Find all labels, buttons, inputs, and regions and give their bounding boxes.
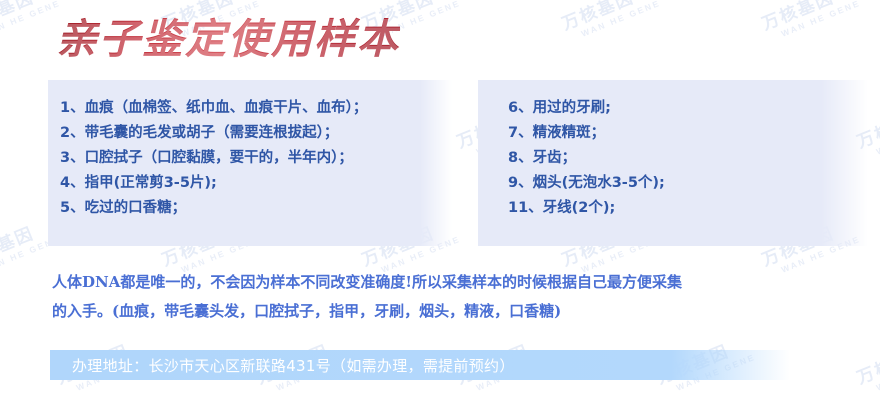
watermark-en: WAN HE GENE [0, 0, 62, 39]
sample-panels: 1、血痕（血棉签、纸巾血、血痕干片、血布）； 2、带毛囊的毛发或胡子（需要连根拔… [0, 80, 880, 246]
address-text: 办理地址：长沙市天心区新联路431号（如需办理，需提前预约） [72, 355, 515, 376]
poster-root: 亲子鉴定使用样本 1、血痕（血棉签、纸巾血、血痕干片、血布）； 2、带毛囊的毛发… [0, 0, 880, 400]
list-item: 3、口腔拭子（口腔黏膜，要干的，半年内）； [60, 146, 452, 171]
note-line-1: 人体DNA都是唯一的，不会因为样本不同改变准确度!所以采集样本的时候根据自己最方… [52, 268, 852, 297]
address-bar: 办理地址：长沙市天心区新联路431号（如需办理，需提前预约） [50, 350, 790, 380]
list-item: 11、牙线(2个); [508, 196, 868, 221]
note-line-2: 的入手。(血痕，带毛囊头发，口腔拭子，指甲，牙刷，烟头，精液，口香糖) [52, 297, 852, 326]
page-title: 亲子鉴定使用样本 [56, 14, 400, 65]
list-item: 4、指甲(正常剪3-5片); [60, 171, 452, 196]
sample-panel-left: 1、血痕（血棉签、纸巾血、血痕干片、血布）； 2、带毛囊的毛发或胡子（需要连根拔… [48, 80, 452, 246]
watermark-cn: 万核基因 [560, 0, 658, 35]
watermark-cn: 万核基因 [855, 335, 880, 389]
title-block: 亲子鉴定使用样本 [56, 14, 400, 65]
watermark-text: 万核基因WAN HE GENE [0, 0, 62, 44]
watermark-cn: 万核基因 [0, 0, 58, 35]
list-item: 7、精液精斑； [508, 121, 868, 146]
list-item: 8、牙齿； [508, 146, 868, 171]
watermark-text: 万核基因WAN HE GENE [560, 0, 662, 44]
watermark-text: 万核基因WAN HE GENE [855, 335, 880, 398]
watermark-en: WAN HE GENE [875, 352, 880, 393]
sample-list-right: 6、用过的牙刷; 7、精液精斑； 8、牙齿； 9、烟头(无泡水3-5个); 11… [478, 80, 868, 221]
watermark-cn: 万核基因 [760, 0, 858, 35]
list-item: 9、烟头(无泡水3-5个); [508, 171, 868, 196]
list-item: 1、血痕（血棉签、纸巾血、血痕干片、血布）； [60, 96, 452, 121]
list-item: 6、用过的牙刷; [508, 96, 868, 121]
list-item: 5、吃过的口香糖； [60, 196, 452, 221]
list-item: 2、带毛囊的毛发或胡子（需要连根拔起）； [60, 121, 452, 146]
watermark-text: 万核基因WAN HE GENE [760, 0, 862, 44]
explanatory-note: 人体DNA都是唯一的，不会因为样本不同改变准确度!所以采集样本的时候根据自己最方… [52, 268, 852, 326]
sample-panel-right: 6、用过的牙刷; 7、精液精斑； 8、牙齿； 9、烟头(无泡水3-5个); 11… [478, 80, 868, 246]
watermark-en: WAN HE GENE [580, 0, 662, 39]
sample-list-left: 1、血痕（血棉签、纸巾血、血痕干片、血布）； 2、带毛囊的毛发或胡子（需要连根拔… [48, 80, 452, 221]
watermark-en: WAN HE GENE [780, 0, 862, 39]
